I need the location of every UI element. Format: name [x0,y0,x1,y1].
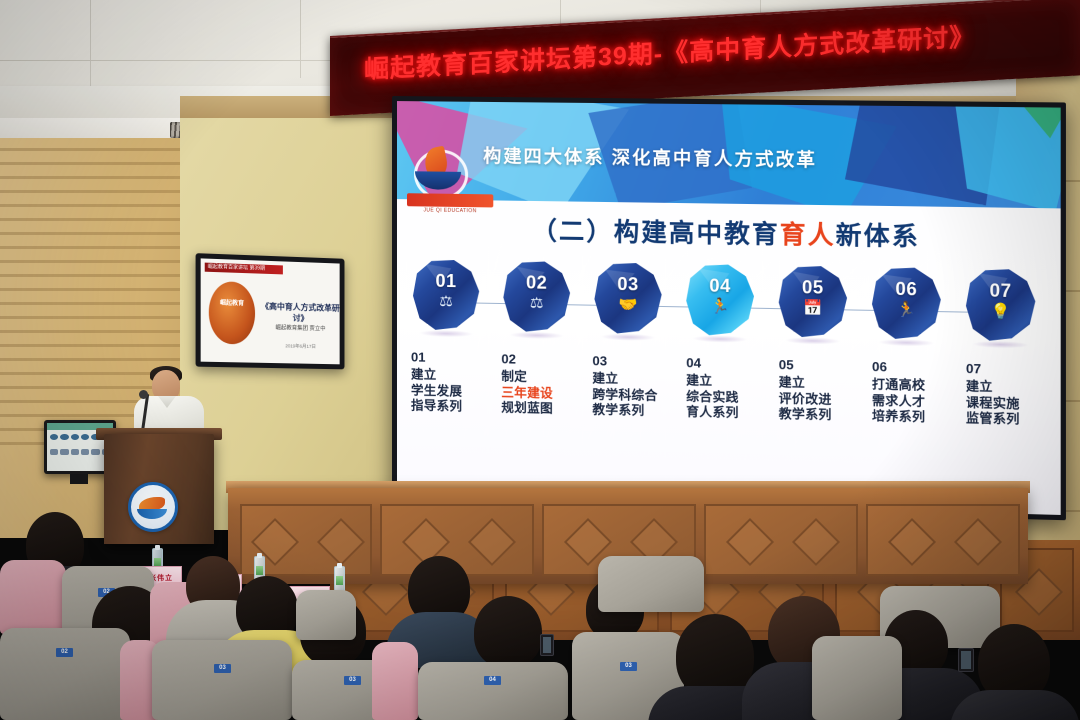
badge-06[interactable]: 06 🏃 [872,267,941,340]
badge-07-number: 07 [966,280,1035,303]
slide-title-highlight: 育人 [780,221,836,250]
av-control-buttons-row2[interactable] [50,449,110,455]
slide-header-title: 构建四大体系 深化高中育人方式改革 [483,142,817,172]
caption-04-number: 04 [686,355,768,372]
caption-06-line1: 打通高校 [872,377,955,395]
caption-05-line3: 教学系列 [779,407,862,425]
slide-title-suffix: 新体系 [836,222,920,252]
seat-number-tag: 02 [56,648,73,657]
badge-01[interactable]: 01 ⚖ [413,259,479,330]
caption-03-line1: 建立 [592,371,686,389]
caption-03: 03 建立 跨学科综合 教学系列 [592,353,686,421]
badge-06-number: 06 [872,278,941,301]
side-monitor-header-text: 崛起教育百家讲坛 第39期 [205,263,283,275]
side-monitor-footer: 2019年6月17日 [257,343,340,352]
caption-05-number: 05 [779,357,862,374]
seat-number-tag: 04 [484,676,501,685]
badge-05[interactable]: 05 📅 [779,265,847,338]
balance-scale-icon: ⚖ [413,293,479,309]
lightbulb-idea-icon: 💡 [966,303,1035,320]
caption-07: 07 建立 课程实施 监管系列 [966,361,1050,429]
badge-row: 01 ⚖ 02 ⚖ 03 🤝 04 [411,259,1046,358]
audience-head [474,596,542,668]
runner-icon: 🏃 [686,298,754,314]
slide-title-prefix: （二）构建高中教育 [532,217,780,249]
side-monitor-badge-line1: 崛起教育 [215,299,249,309]
caption-07-line3: 监管系列 [966,411,1050,429]
calendar-clock-icon: 📅 [779,300,847,317]
badge-03[interactable]: 03 🤝 [594,262,661,334]
runner-icon: 🏃 [872,302,941,319]
caption-05: 05 建立 评价改进 教学系列 [779,357,862,425]
seat-back: 02 [0,628,130,720]
caption-03-number: 03 [592,353,686,370]
caption-05-line1: 建立 [779,375,862,393]
badge-04-number: 04 [686,275,754,297]
seat-back [372,642,418,720]
caption-02: 02 制定 三年建设 规划蓝图 [501,351,582,418]
audience-shoulders [950,690,1080,720]
caption-02-line1: 制定 [501,369,582,386]
badge-03-number: 03 [594,273,661,295]
presentation-screen: 构建四大体系 深化高中育人方式改革 JUE QI EDUCATION （二）构建… [392,96,1066,520]
caption-row: 01 建立 学生发展 指导系列 02 制定 三年建设 规划蓝图 03 建立 跨学… [411,349,1046,485]
seat-back [0,560,66,634]
seat-back [812,636,902,720]
caption-01-number: 01 [411,349,491,366]
caption-04-line1: 建立 [686,373,768,391]
side-monitor-badge: 崛起教育 [209,281,255,345]
podium [104,434,214,544]
seat-back [296,590,356,640]
caption-07-line1: 建立 [966,379,1050,397]
badge-05-number: 05 [779,277,847,300]
smartphone [540,634,554,656]
microphone-head [139,390,148,399]
smartphone [958,648,974,672]
side-monitor-header-bar: 崛起教育百家讲坛 第39期 [205,263,283,275]
badge-02[interactable]: 02 ⚖ [503,261,570,333]
side-monitor: 崛起教育百家讲坛 第39期 崛起教育 《高中育人方式改革研讨》 崛起教育集团 贾… [196,253,345,369]
slide-title: （二）构建高中教育育人新体系 [397,209,1061,256]
seat-back: 04 [418,662,568,720]
caption-06: 06 打通高校 需求人才 培养系列 [872,359,955,427]
balance-scale-icon: ⚖ [503,295,570,311]
badge-01-number: 01 [413,270,479,292]
seat-number-tag: 03 [344,676,361,685]
caption-01-line1: 建立 [411,367,491,384]
seat-back [598,556,704,612]
caption-07-number: 07 [966,361,1050,378]
caption-03-line3: 教学系列 [592,403,686,421]
seat-number-tag: 03 [214,664,231,673]
badge-04[interactable]: 04 🏃 [686,264,754,336]
logo-wordmark [407,193,493,207]
side-monitor-title: 《高中育人方式改革研讨》 [257,301,340,325]
handshake-icon: 🤝 [594,297,661,313]
caption-06-line3: 培养系列 [872,409,955,427]
monitor-stand [70,474,88,484]
badge-07[interactable]: 07 💡 [966,269,1035,342]
school-crest-emblem [128,482,178,532]
caption-02-number: 02 [501,351,582,368]
caption-01: 01 建立 学生发展 指导系列 [411,349,491,416]
caption-01-line3: 指导系列 [411,399,491,417]
caption-04-line3: 育人系列 [686,405,768,423]
side-monitor-slide: 崛起教育百家讲坛 第39期 崛起教育 《高中育人方式改革研讨》 崛起教育集团 贾… [201,258,340,364]
conference-hall-photo: 崛起教育百家讲坛第39期-《高中育人方式改革研讨》 构建四大体系 深化高中育人方… [0,0,1080,720]
caption-06-number: 06 [872,359,955,376]
seat-back: 03 [152,640,292,720]
slide-header-banner: 构建四大体系 深化高中育人方式改革 [397,101,1061,208]
caption-02-line3: 规划蓝图 [501,401,582,419]
badge-02-number: 02 [503,272,570,294]
side-monitor-subtitle: 崛起教育集团 贾立中 [257,323,340,333]
slide-content: 构建四大体系 深化高中育人方式改革 JUE QI EDUCATION （二）构建… [397,101,1061,515]
seat-number-tag: 03 [620,662,637,671]
caption-04: 04 建立 综合实践 育人系列 [686,355,768,423]
